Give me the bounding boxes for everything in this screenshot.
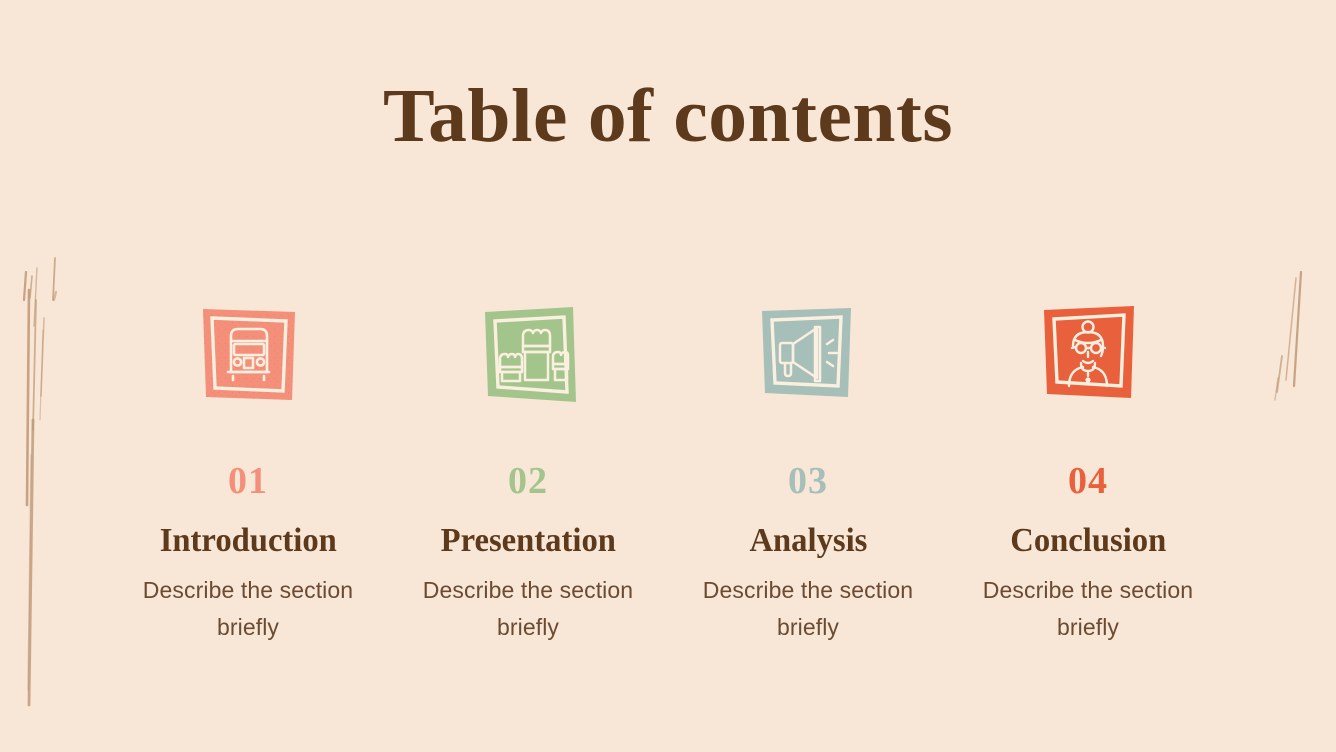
title-container: Table of contents (0, 78, 1336, 154)
section-title: Presentation (440, 524, 615, 558)
icon-card-introduction[interactable] (189, 300, 307, 408)
section-title: Conclusion (1010, 524, 1166, 558)
megaphone-icon (762, 308, 851, 397)
page-title: Table of contents (0, 78, 1336, 154)
section-item-presentation[interactable]: 02 Presentation Describe the section bri… (388, 300, 668, 647)
bus-icon (203, 309, 295, 400)
section-number: 04 (1068, 462, 1108, 500)
icon-card-presentation[interactable] (469, 300, 587, 408)
section-item-introduction[interactable]: 01 Introduction Describe the section bri… (108, 300, 388, 647)
sections-row: 01 Introduction Describe the section bri… (108, 300, 1228, 647)
elderly-woman-portrait-icon (1044, 306, 1134, 398)
raised-fists-icon (485, 307, 576, 402)
icon-card-conclusion[interactable] (1029, 300, 1147, 408)
section-title: Introduction (159, 524, 336, 558)
section-item-conclusion[interactable]: 04 Conclusion Describe the section brief… (948, 300, 1228, 647)
slide-canvas: Table of contents (0, 0, 1336, 752)
section-description: Describe the section briefly (413, 572, 643, 647)
section-description: Describe the section briefly (973, 572, 1203, 647)
section-item-analysis[interactable]: 03 Analysis Describe the section briefly (668, 300, 948, 647)
icon-card-analysis[interactable] (749, 300, 867, 408)
section-number: 02 (508, 462, 548, 500)
section-description: Describe the section briefly (133, 572, 363, 647)
section-number: 01 (228, 462, 268, 500)
section-description: Describe the section briefly (693, 572, 923, 647)
section-title: Analysis (749, 524, 867, 558)
section-number: 03 (788, 462, 828, 500)
